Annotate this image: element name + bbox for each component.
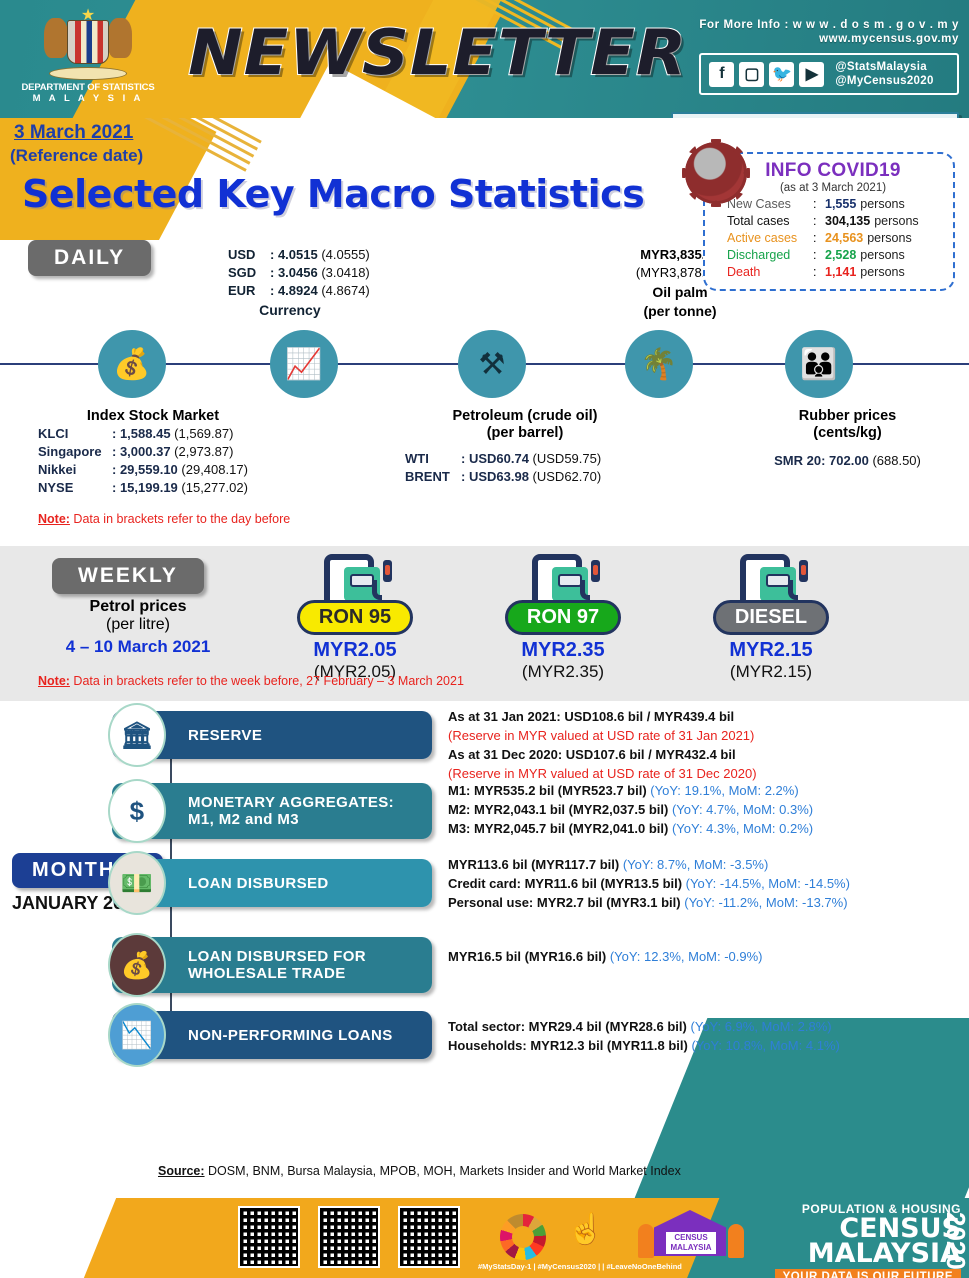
covid-info-panel: INFO COVID19 (as at 3 March 2021) New Ca… (703, 152, 955, 291)
source-body: DOSM, BNM, Bursa Malaysia, MPOB, MOH, Ma… (205, 1164, 681, 1178)
monthly-item-values: As at 31 Jan 2021: USD108.6 bil / MYR439… (448, 707, 757, 783)
currency-row: SGD: 3.0456 (3.0418) (228, 264, 370, 282)
weekly-period: 4 – 10 March 2021 (38, 637, 238, 657)
covid-row-colon: : (813, 196, 825, 213)
monthly-value-main: As at 31 Jan 2021: USD108.6 bil / MYR439… (448, 709, 734, 724)
petroleum-label: WTI (405, 450, 461, 468)
currency-previous: (4.8674) (321, 283, 369, 298)
covid-subtitle: (as at 3 March 2021) (727, 182, 939, 194)
facebook-icon[interactable]: f (709, 62, 734, 87)
stock-previous: (2,973.87) (174, 444, 233, 459)
fuel-price: MYR2.05 (260, 639, 450, 662)
monthly-value-line: MYR16.5 bil (MYR16.6 bil) (YoY: 12.3%, M… (448, 947, 763, 966)
covid-row-colon: : (813, 213, 825, 230)
bank-icon: 🏛 (108, 703, 166, 767)
footer-hashtags: #MyStatsDay-1 | #MyCensus2020 | | #Leave… (478, 1262, 682, 1271)
coronavirus-icon (685, 142, 747, 204)
oil-palm-caption-2: (per tonne) (595, 303, 765, 320)
instagram-icon[interactable]: ▢ (739, 62, 764, 87)
monthly-value-main: M2: MYR2,043.1 bil (MYR2,037.5 bil) (448, 802, 668, 817)
covid-row-value: 1,555 (825, 196, 856, 213)
petroleum-row: BRENT: USD63.98 (USD62.70) (405, 468, 645, 486)
petroleum-value: : USD60.74 (461, 451, 529, 466)
pump-body (532, 554, 582, 606)
covid-row: New Cases:1,555persons (727, 196, 939, 213)
stock-row: Singapore: 3,000.37 (2,973.87) (38, 443, 268, 461)
qr-code-facebook[interactable] (318, 1206, 380, 1268)
fuel-previous-price: (MYR2.15) (676, 662, 866, 682)
monthly-item-values: MYR113.6 bil (MYR117.7 bil) (YoY: 8.7%, … (448, 855, 850, 912)
weekly-subheading: (per litre) (38, 616, 238, 634)
rubber-value: SMR 20: 702.00 (774, 453, 869, 468)
monthly-value-main: As at 31 Dec 2020: USD107.6 bil / MYR432… (448, 747, 736, 762)
covid-row-unit: persons (860, 247, 904, 264)
weekly-heading-block: Petrol prices (per litre) 4 – 10 March 2… (38, 598, 238, 657)
qr-code-mycensus[interactable] (398, 1206, 460, 1268)
weekly-note-body: Data in brackets refer to the week befor… (70, 674, 464, 688)
oil-rig-icon: ⚒ (458, 330, 526, 398)
stock-label: Singapore (38, 443, 112, 461)
pump-nozzle-icon (591, 560, 600, 582)
pump-body (324, 554, 374, 606)
monthly-item-label: LOAN DISBURSED (188, 875, 329, 892)
stock-title: Index Stock Market (38, 408, 268, 425)
monthly-value-line: M2: MYR2,043.1 bil (MYR2,037.5 bil) (YoY… (448, 800, 813, 819)
census-figure-left-icon (638, 1224, 654, 1258)
series-badge: DOSM/2021/Series 32 | 04.03.2021 (671, 112, 959, 118)
covid-row-value: 304,135 (825, 213, 870, 230)
petroleum-previous: (USD62.70) (533, 469, 602, 484)
currency-value: : 3.0456 (270, 265, 318, 280)
monthly-section: MONTHLY JANUARY 2021 RESERVE🏛MONETARY AG… (0, 701, 969, 1198)
weekly-section: WEEKLY Petrol prices (per litre) 4 – 10 … (0, 546, 969, 701)
covid-row-colon: : (813, 230, 825, 247)
stock-label: NYSE (38, 479, 112, 497)
covid-row-label: Discharged (727, 247, 813, 264)
ribbon-icon (49, 67, 127, 80)
stock-value: : 1,588.45 (112, 426, 171, 441)
department-name-line2: M A L A Y S I A (18, 93, 158, 104)
covid-row-value: 1,141 (825, 264, 856, 281)
loan-icon: 💵 (108, 851, 166, 915)
covid-row-label: Active cases (727, 230, 813, 247)
monthly-value-line: Households: MYR12.3 bil (MYR11.8 bil) (Y… (448, 1036, 840, 1055)
monthly-value-main: MYR16.5 bil (MYR16.6 bil) (448, 949, 606, 964)
rubber-block: Rubber prices (cents/kg) SMR 20: 702.00 … (740, 408, 955, 470)
currency-row: EUR: 4.8924 (4.8674) (228, 282, 370, 300)
monthly-value-main: Credit card: MYR11.6 bil (MYR13.5 bil) (448, 876, 682, 891)
monthly-item-label: MONETARY AGGREGATES:M1, M2 and M3 (188, 794, 394, 828)
monthly-item-values: MYR16.5 bil (MYR16.6 bil) (YoY: 12.3%, M… (448, 947, 763, 966)
monthly-item-label: LOAN DISBURSED FORWHOLESALE TRADE (188, 948, 366, 982)
malaysia-coat-of-arms-icon: ★ (42, 6, 134, 80)
department-name-line1: DEPARTMENT OF STATISTICS (18, 82, 158, 93)
monthly-value-line: MYR113.6 bil (MYR117.7 bil) (YoY: 8.7%, … (448, 855, 850, 874)
reference-date: 3 March 2021 (14, 122, 133, 144)
pump-hose-icon (372, 580, 382, 600)
covid-row-colon: : (813, 264, 825, 281)
shield-icon (67, 20, 109, 64)
money-bag-hand-icon: 💰 (108, 933, 166, 997)
census-logo-text: CENSUS MALAYSIA (666, 1232, 716, 1254)
tiger-left-icon (44, 18, 68, 58)
covid-row-colon: : (813, 247, 825, 264)
monthly-item-pill: LOAN DISBURSED FORWHOLESALE TRADE💰 (112, 937, 432, 993)
stock-label: KLCI (38, 425, 112, 443)
monthly-item-pill: RESERVE🏛 (112, 711, 432, 759)
ribbon-speed-lines (682, 1060, 765, 1093)
monthly-item: MONETARY AGGREGATES:M1, M2 and M3$ (112, 783, 432, 839)
monthly-value-change: (YoY: 12.3%, MoM: -0.9%) (606, 949, 762, 964)
daily-note-label: Note: (38, 512, 70, 526)
page-header: ★ DEPARTMENT OF STATISTICS M A L A Y S I… (0, 0, 969, 118)
mystatsday-icon: ☝ (562, 1212, 610, 1262)
currency-icon: 💰 (98, 330, 166, 398)
header-contact-block: For More Info : w w w . d o s m . g o v … (699, 18, 959, 95)
monthly-value-line: As at 31 Dec 2020: USD107.6 bil / MYR432… (448, 745, 757, 764)
fuel-name-pill: RON 97 (505, 600, 621, 635)
covid-row: Discharged:2,528persons (727, 247, 939, 264)
petroleum-block: Petroleum (crude oil) (per barrel) WTI: … (405, 408, 645, 486)
monthly-value-change: (YoY: 19.1%, MoM: 2.2%) (647, 783, 799, 798)
newsletter-wordmark: NEWSLETTER (188, 16, 687, 89)
monthly-item-pill: LOAN DISBURSED💵 (112, 859, 432, 907)
weekly-heading: Petrol prices (38, 598, 238, 616)
rubber-tapping-icon: 👪 (785, 330, 853, 398)
monthly-value-line: As at 31 Jan 2021: USD108.6 bil / MYR439… (448, 707, 757, 726)
petroleum-title-2: (per barrel) (405, 425, 645, 442)
covid-row-unit: persons (860, 196, 904, 213)
monthly-value-line: M1: MYR535.2 bil (MYR523.7 bil) (YoY: 19… (448, 781, 813, 800)
monthly-item-label-line1: LOAN DISBURSED (188, 875, 329, 892)
monthly-value-change: (YoY: 8.7%, MoM: -3.5%) (619, 857, 768, 872)
currency-code: EUR (228, 282, 270, 300)
rubber-previous: (688.50) (872, 453, 920, 468)
monthly-item-pill: NON-PERFORMING LOANS📉 (112, 1011, 432, 1059)
stock-value: : 15,199.19 (112, 480, 178, 495)
stock-previous: (1,569.87) (174, 426, 233, 441)
twitter-icon[interactable]: 🐦 (769, 62, 794, 87)
monthly-value-line: Personal use: MYR2.7 bil (MYR3.1 bil) (Y… (448, 893, 850, 912)
covid-row-label: Death (727, 264, 813, 281)
pump-nozzle-icon (383, 560, 392, 582)
rubber-title-2: (cents/kg) (740, 425, 955, 442)
monthly-value-line: M3: MYR2,045.7 bil (MYR2,041.0 bil) (YoY… (448, 819, 813, 838)
currency-rows: USD: 4.0515 (4.0555)SGD: 3.0456 (3.0418)… (228, 246, 370, 300)
rubber-value-row: SMR 20: 702.00 (688.50) (740, 452, 955, 470)
fuel-previous-price: (MYR2.35) (468, 662, 658, 682)
covid-row: Total cases:304,135persons (727, 213, 939, 230)
sdg-wheel-icon (500, 1214, 546, 1260)
monthly-value-change: (YoY: -11.2%, MoM: -13.7%) (681, 895, 848, 910)
monthly-value-change: (YoY: 4.7%, MoM: 0.3%) (668, 802, 813, 817)
monthly-value-change: (YoY: 4.3%, MoM: 0.2%) (668, 821, 813, 836)
monthly-value-line: Credit card: MYR11.6 bil (MYR13.5 bil) (… (448, 874, 850, 893)
monthly-item: LOAN DISBURSED FORWHOLESALE TRADE💰 (112, 937, 432, 993)
currency-caption: Currency (228, 302, 370, 318)
covid-row-unit: persons (860, 264, 904, 281)
covid-row-value: 2,528 (825, 247, 856, 264)
currency-value: : 4.8924 (270, 283, 318, 298)
more-info-line1: For More Info : w w w . d o s m . g o v … (699, 18, 959, 32)
palm-tree-icon: 🌴 (625, 330, 693, 398)
currency-code: USD (228, 246, 270, 264)
tiger-right-icon (108, 18, 132, 58)
daily-note: Note: Data in brackets refer to the day … (38, 512, 290, 526)
youtube-icon[interactable]: ▶ (799, 62, 824, 87)
stock-label: Nikkei (38, 461, 112, 479)
covid-row-value: 24,563 (825, 230, 863, 247)
covid-row-unit: persons (874, 213, 918, 230)
fuel-price: MYR2.15 (676, 639, 866, 662)
social-links-box: f ▢ 🐦 ▶ @StatsMalaysia @MyCensus2020 (699, 53, 959, 95)
fuel-name-pill: DIESEL (713, 600, 829, 635)
weekly-note-label: Note: (38, 674, 70, 688)
more-info-line2: www.mycensus.gov.my (699, 32, 959, 46)
stock-row: Nikkei: 29,559.10 (29,408.17) (38, 461, 268, 479)
monthly-item-label-line1: MONETARY AGGREGATES: (188, 794, 394, 811)
petroleum-label: BRENT (405, 468, 461, 486)
monthly-item: LOAN DISBURSED💵 (112, 859, 432, 907)
census-tagline: YOUR DATA IS OUR FUTURE (775, 1269, 961, 1278)
weekly-badge: WEEKLY (52, 558, 204, 594)
covid-title: INFO COVID19 (727, 160, 939, 182)
pump-hose-icon (788, 580, 798, 600)
currency-code: SGD (228, 264, 270, 282)
page-footer: ☝ CENSUS MALAYSIA #MyStatsDay-1 | #MyCen… (0, 1198, 969, 1278)
source-line: Source: DOSM, BNM, Bursa Malaysia, MPOB,… (158, 1164, 681, 1178)
pump-body (740, 554, 790, 606)
fuel-price: MYR2.35 (468, 639, 658, 662)
petroleum-rows: WTI: USD60.74 (USD59.75)BRENT: USD63.98 … (405, 450, 645, 486)
stock-rows: KLCI: 1,588.45 (1,569.87)Singapore: 3,00… (38, 425, 268, 497)
monthly-item-label: NON-PERFORMING LOANS (188, 1027, 393, 1044)
currency-previous: (3.0418) (321, 265, 369, 280)
census-figure-right-icon (728, 1224, 744, 1258)
handle-mycensus2020: @MyCensus2020 (835, 74, 933, 88)
monthly-item-label: RESERVE (188, 727, 262, 744)
census-banner: POPULATION & HOUSING CENSUS MALAYSIA YOU… (775, 1202, 961, 1278)
source-label: Source: (158, 1164, 205, 1178)
monthly-item-label-line1: NON-PERFORMING LOANS (188, 1027, 393, 1044)
covid-row-label: New Cases (727, 196, 813, 213)
monthly-item: NON-PERFORMING LOANS📉 (112, 1011, 432, 1059)
stock-value: : 3,000.37 (112, 444, 171, 459)
monthly-item-label-line2: WHOLESALE TRADE (188, 965, 366, 982)
stock-previous: (29,408.17) (181, 462, 248, 477)
fuel-name-pill: RON 95 (297, 600, 413, 635)
non-performing-loans-icon: 📉 (108, 1003, 166, 1067)
currency-value: : 4.0515 (270, 247, 318, 262)
census-line-3: MALAYSIA (775, 1241, 961, 1266)
social-handles: @StatsMalaysia @MyCensus2020 (835, 60, 933, 88)
pump-nozzle-icon (799, 560, 808, 582)
fuel-block: RON 97MYR2.35(MYR2.35) (468, 554, 658, 682)
monthly-item-label-line1: LOAN DISBURSED FOR (188, 948, 366, 965)
monthly-value-main: Personal use: MYR2.7 bil (MYR3.1 bil) (448, 895, 681, 910)
stock-previous: (15,277.02) (181, 480, 248, 495)
petroleum-row: WTI: USD60.74 (USD59.75) (405, 450, 645, 468)
monthly-value-main: M3: MYR2,045.7 bil (MYR2,041.0 bil) (448, 821, 668, 836)
daily-badge: DAILY (28, 240, 151, 276)
monthly-value-main: Households: MYR12.3 bil (MYR11.8 bil) (448, 1038, 688, 1053)
monthly-value-change: (YoY: -14.5%, MoM: -14.5%) (682, 876, 850, 891)
covid-row: Death:1,141persons (727, 264, 939, 281)
census-line-1: POPULATION & HOUSING (775, 1202, 961, 1216)
stock-value: : 29,559.10 (112, 462, 178, 477)
petroleum-title-1: Petroleum (crude oil) (405, 408, 645, 425)
reference-date-label: (Reference date) (10, 146, 143, 166)
covid-rows: New Cases:1,555personsTotal cases:304,13… (727, 196, 939, 281)
monthly-value-line: (Reserve in MYR valued at USD rate of 31… (448, 726, 757, 745)
covid-row-unit: persons (867, 230, 911, 247)
petroleum-value: : USD63.98 (461, 469, 529, 484)
currency-previous: (4.0555) (321, 247, 369, 262)
rubber-title-1: Rubber prices (740, 408, 955, 425)
census-malaysia-logo: CENSUS MALAYSIA (636, 1210, 746, 1266)
stock-market-block: Index Stock Market KLCI: 1,588.45 (1,569… (38, 408, 268, 497)
handle-statsmalaysia: @StatsMalaysia (835, 60, 933, 74)
daily-note-body: Data in brackets refer to the day before (70, 512, 290, 526)
monthly-value-change: (YoY: 10.8%, MoM: 4.1%) (688, 1038, 840, 1053)
stock-chart-icon: 📈 (270, 330, 338, 398)
qr-code-dosm[interactable] (238, 1206, 300, 1268)
monthly-item-label-line2: M1, M2 and M3 (188, 811, 394, 828)
monthly-item: RESERVE🏛 (112, 711, 432, 759)
monthly-value-main: MYR113.6 bil (MYR117.7 bil) (448, 857, 619, 872)
monthly-item-values: Total sector: MYR29.4 bil (MYR28.6 bil) … (448, 1017, 840, 1055)
dosm-crest: ★ DEPARTMENT OF STATISTICS M A L A Y S I… (18, 6, 158, 104)
fuel-block: RON 95MYR2.05(MYR2.05) (260, 554, 450, 682)
covid-row-label: Total cases (727, 213, 813, 230)
currency-block: USD: 4.0515 (4.0555)SGD: 3.0456 (3.0418)… (228, 246, 370, 318)
monthly-value-line: Total sector: MYR29.4 bil (MYR28.6 bil) … (448, 1017, 840, 1036)
currency-row: USD: 4.0515 (4.0555) (228, 246, 370, 264)
monthly-item-label-line1: RESERVE (188, 727, 262, 744)
page-title: Selected Key Macro Statistics (22, 172, 644, 216)
monthly-value-change: (YoY: 6.9%, MoM: 2.8%) (687, 1019, 832, 1034)
fuel-block: DIESELMYR2.15(MYR2.15) (676, 554, 866, 682)
pump-hose-icon (580, 580, 590, 600)
census-line-2: CENSUS (775, 1216, 961, 1241)
petroleum-previous: (USD59.75) (533, 451, 602, 466)
monthly-item-pill: MONETARY AGGREGATES:M1, M2 and M3$ (112, 783, 432, 839)
stock-row: NYSE: 15,199.19 (15,277.02) (38, 479, 268, 497)
stock-row: KLCI: 1,588.45 (1,569.87) (38, 425, 268, 443)
money-supply-icon: $ (108, 779, 166, 843)
covid-row: Active cases:24,563persons (727, 230, 939, 247)
weekly-note: Note: Data in brackets refer to the week… (38, 674, 464, 688)
monthly-item-values: M1: MYR535.2 bil (MYR523.7 bil) (YoY: 19… (448, 781, 813, 838)
monthly-value-main: M1: MYR535.2 bil (MYR523.7 bil) (448, 783, 647, 798)
monthly-value-main: Total sector: MYR29.4 bil (MYR28.6 bil) (448, 1019, 687, 1034)
